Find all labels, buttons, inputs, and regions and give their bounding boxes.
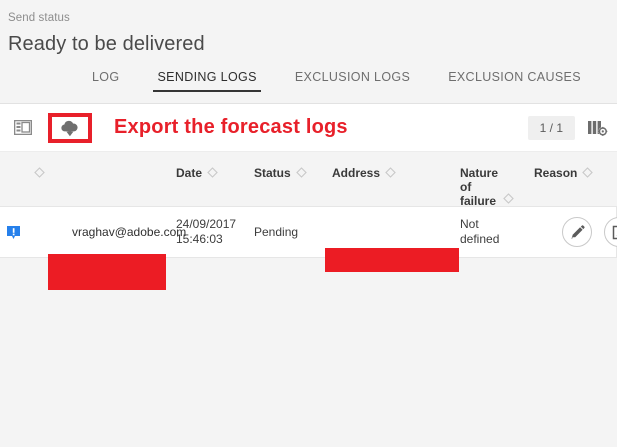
nature-line-2: of [460,180,471,194]
table-toolbar: Export the forecast logs 1 / 1 [0,104,617,152]
tab-exclusion-causes[interactable]: EXCLUSION CAUSES [448,70,581,92]
cloud-download-icon [59,118,81,138]
nature-line-1: Nature [460,166,498,180]
redaction-block-address [325,248,459,272]
column-header-recipient [66,164,176,166]
sending-logs-table: Date Status Address Nature of failure [0,152,617,258]
column-header-address-label: Address [332,166,380,180]
column-header-address[interactable]: Address [332,164,460,181]
column-header-nature-of-failure[interactable]: Nature of failure [460,164,534,208]
recipient-cell: vraghav@adobe.com [66,207,176,257]
panel-toggle-icon[interactable] [14,120,32,135]
pencil-edit-icon [569,224,586,241]
column-header-status-label: Status [254,166,291,180]
sort-icon [296,167,307,181]
table-header-row: Date Status Address Nature of failure [0,152,617,206]
time-value: 15:46:03 [176,232,236,247]
column-header-status[interactable]: Status [254,164,332,181]
sort-icon [385,167,396,181]
open-detail-icon [612,225,617,240]
column-settings-gear-icon[interactable] [587,118,609,138]
annotation-text: Export the forecast logs [114,116,348,139]
date-cell: 24/09/2017 15:46:03 [176,207,254,257]
page-title: Ready to be delivered [8,29,617,59]
row-status-icon-cell [0,207,66,257]
nature-value-line-1: Not [460,217,499,232]
table-row[interactable]: vraghav@adobe.com 24/09/2017 15:46:03 Pe… [0,206,617,258]
open-detail-button[interactable] [604,217,617,247]
row-actions [562,207,616,257]
recipient-email: vraghav@adobe.com [66,225,186,240]
sort-icon [582,167,593,181]
status-cell: Pending [254,207,332,257]
toolbar-right-group: 1 / 1 [528,116,609,140]
breadcrumb: Send status [8,10,617,26]
sort-icon [503,193,514,207]
sort-icon [34,167,45,181]
info-exclamation-icon [6,225,21,240]
column-header-date-label: Date [176,166,202,180]
redaction-block-recipient [48,254,166,290]
date-value: 24/09/2017 [176,217,236,232]
tab-log[interactable]: LOG [92,70,119,92]
nature-of-failure-cell: Not defined [460,207,534,257]
edit-row-button[interactable] [562,217,592,247]
tab-bar: LOG SENDING LOGS EXCLUSION LOGS EXCLUSIO… [0,70,617,104]
nature-value-line-2: defined [460,232,499,247]
sort-icon [207,167,218,181]
status-value: Pending [254,225,298,240]
pagination-indicator[interactable]: 1 / 1 [528,116,575,140]
tab-exclusion-logs[interactable]: EXCLUSION LOGS [295,70,410,92]
column-header-select[interactable] [0,164,66,181]
tab-sending-logs[interactable]: SENDING LOGS [157,70,256,92]
column-header-date[interactable]: Date [176,164,254,181]
export-logs-button[interactable] [48,113,92,143]
column-header-reason[interactable]: Reason [534,164,614,181]
column-header-nature-of-failure-label: Nature of failure [460,166,498,208]
page-header: Send status Ready to be delivered [0,0,617,59]
column-header-reason-label: Reason [534,166,577,180]
